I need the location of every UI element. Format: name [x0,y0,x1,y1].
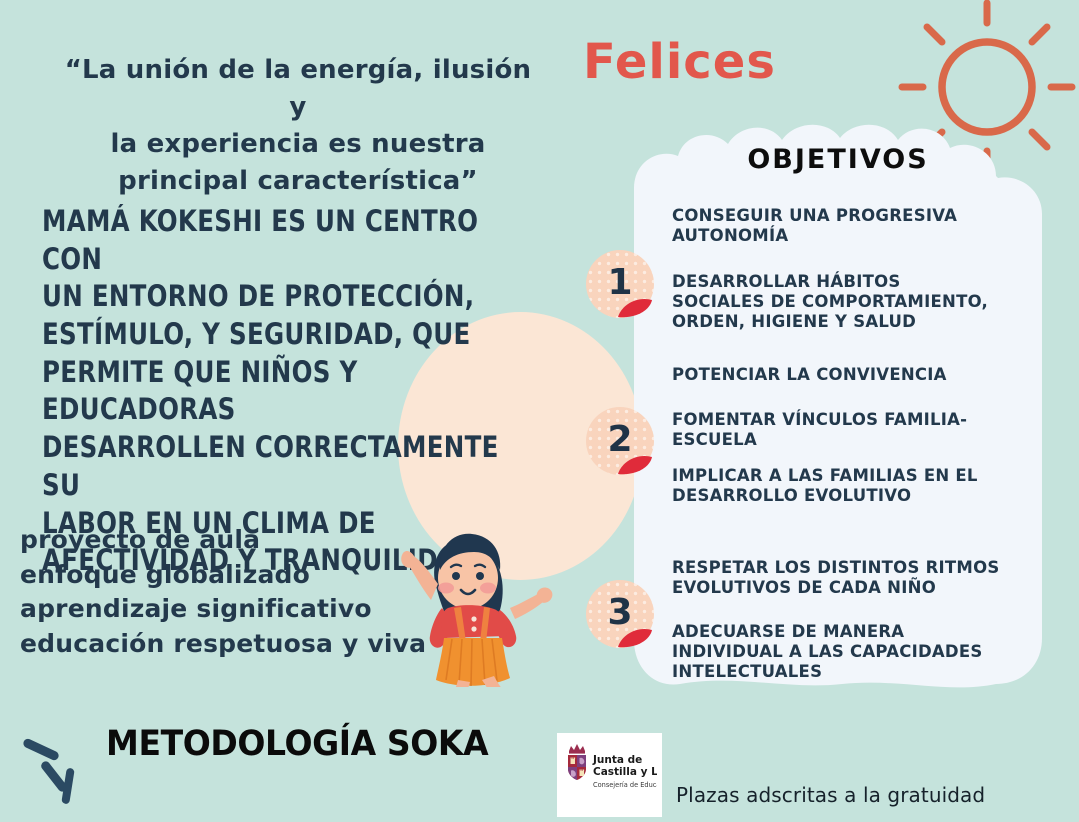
headline-quote: “La unión de la energía, ilusión y la ex… [58,52,538,200]
footer-note: Plazas adscritas a la gratuidad [676,783,985,807]
svg-text:Castilla y León: Castilla y León [593,766,657,778]
objective-item-2: DESARROLLAR HÁBITOS SOCIALES DE COMPORTA… [672,272,988,332]
slash-mark-1 [22,737,60,761]
objective-5-line-2: DESARROLLO EVOLUTIVO [672,486,978,506]
objective-7-line-1: ADECUARSE DE MANERA [672,622,983,642]
principle-item-4: educación respetuosa y viva [20,627,440,662]
principle-item-3: aprendizaje significativo [20,592,440,627]
objective-2-line-3: ORDEN, HIGIENE Y SALUD [672,312,988,332]
objective-badge-3: 3 [586,580,654,648]
slash-mark-3 [61,768,75,805]
principle-item-2: enfoque globalizado [20,558,440,593]
objective-6-line-1: RESPETAR LOS DISTINTOS RITMOS [672,558,1000,578]
svg-text:Junta de: Junta de [592,754,642,766]
objective-1-line-2: AUTONOMÍA [672,226,957,246]
objective-item-7: ADECUARSE DE MANERA INDIVIDUAL A LAS CAP… [672,622,983,682]
objective-5-line-1: IMPLICAR A LAS FAMILIAS EN EL [672,466,978,486]
objective-1-line-1: CONSEGUIR UNA PROGRESIVA [672,206,957,226]
lead-line-1: MAMÁ KOKESHI ES UN CENTRO CON [42,203,512,278]
felices-headline: Felices [583,34,776,90]
objective-7-line-3: INTELECTUALES [672,662,983,682]
castilla-y-leon-crest-icon: Junta de Castilla y León Consejería de E… [562,741,657,809]
objective-item-3: POTENCIAR LA CONVIVENCIA [672,365,947,385]
objective-item-1: CONSEGUIR UNA PROGRESIVA AUTONOMÍA [672,206,957,246]
objective-4-line-2: ESCUELA [672,430,967,450]
quote-line-1: “La unión de la energía, ilusión y [58,52,538,126]
objective-item-4: FOMENTAR VÍNCULOS FAMILIA- ESCUELA [672,410,967,450]
objective-item-5: IMPLICAR A LAS FAMILIAS EN EL DESARROLLO… [672,466,978,506]
objective-2-line-2: SOCIALES DE COMPORTAMIENTO, [672,292,988,312]
svg-text:Consejería de Educación: Consejería de Educación [593,781,657,789]
objective-badge-2: 2 [586,407,654,475]
junta-logo: Junta de Castilla y León Consejería de E… [557,733,662,817]
methodology-label: METODOLOGÍA SOKA [106,722,488,763]
objective-7-line-2: INDIVIDUAL A LAS CAPACIDADES [672,642,983,662]
poster-canvas: “La unión de la energía, ilusión y la ex… [0,0,1079,822]
panel-title: OBJETIVOS [628,144,1048,175]
ribbon-icon [616,626,656,648]
ribbon-icon [616,296,656,318]
jumping-girl-illustration [382,512,572,687]
objective-3-line-1: POTENCIAR LA CONVIVENCIA [672,365,947,385]
lead-line-5: DESARROLLEN CORRECTAMENTE SU [42,429,512,504]
ribbon-icon [616,453,656,475]
objective-badge-1: 1 [586,250,654,318]
objective-4-line-1: FOMENTAR VÍNCULOS FAMILIA- [672,410,967,430]
principles-list: proyecto de aula enfoque globalizado apr… [20,523,440,661]
lead-line-2: UN ENTORNO DE PROTECCIÓN, [42,278,512,316]
lead-line-4: PERMITE QUE NIÑOS Y EDUCADORAS [42,354,512,429]
principle-item-1: proyecto de aula [20,523,440,558]
lead-line-3: ESTÍMULO, Y SEGURIDAD, QUE [42,316,512,354]
objective-6-line-2: EVOLUTIVOS DE CADA NIÑO [672,578,1000,598]
quote-line-3: principal característica” [58,163,538,200]
objectives-panel: OBJETIVOS CONSEGUIR UNA PROGRESIVA AUTON… [628,118,1048,718]
objective-2-line-1: DESARROLLAR HÁBITOS [672,272,988,292]
objective-item-6: RESPETAR LOS DISTINTOS RITMOS EVOLUTIVOS… [672,558,1000,598]
quote-line-2: la experiencia es nuestra [58,126,538,163]
